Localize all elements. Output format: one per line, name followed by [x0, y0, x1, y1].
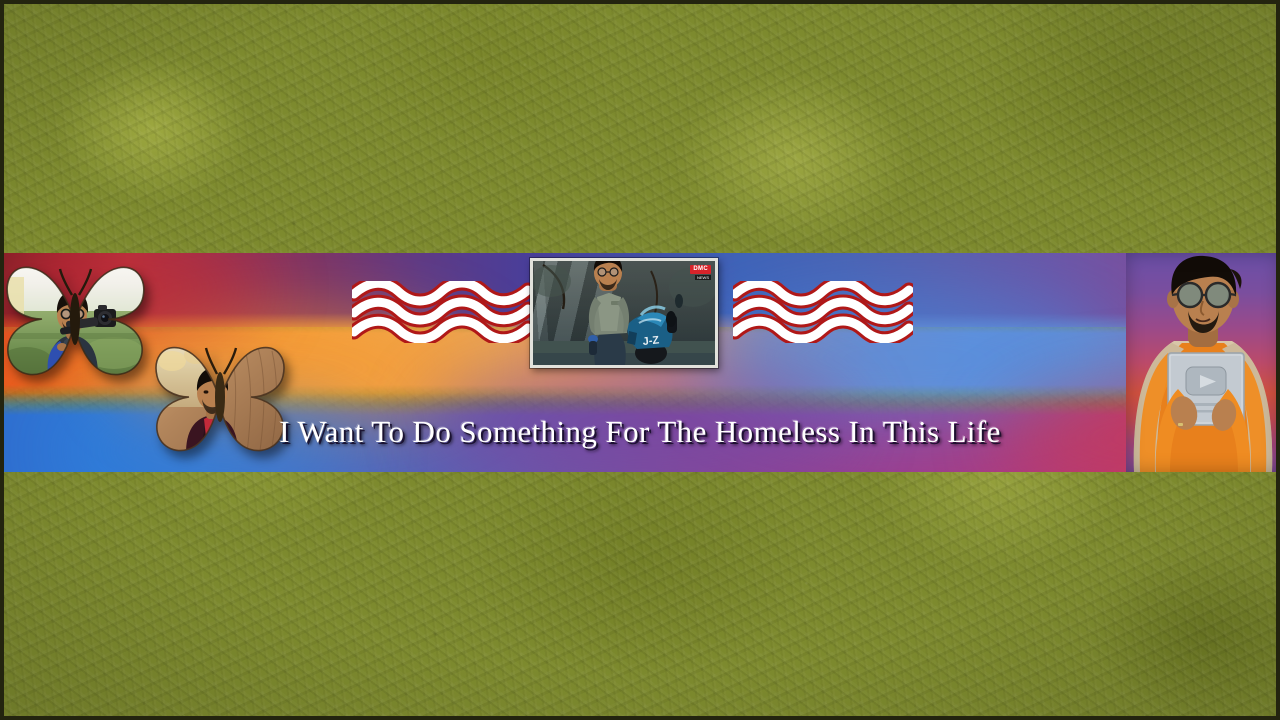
banner-artwork-canvas: J-Z	[0, 0, 1280, 720]
artwork-outer-border	[0, 0, 1280, 720]
